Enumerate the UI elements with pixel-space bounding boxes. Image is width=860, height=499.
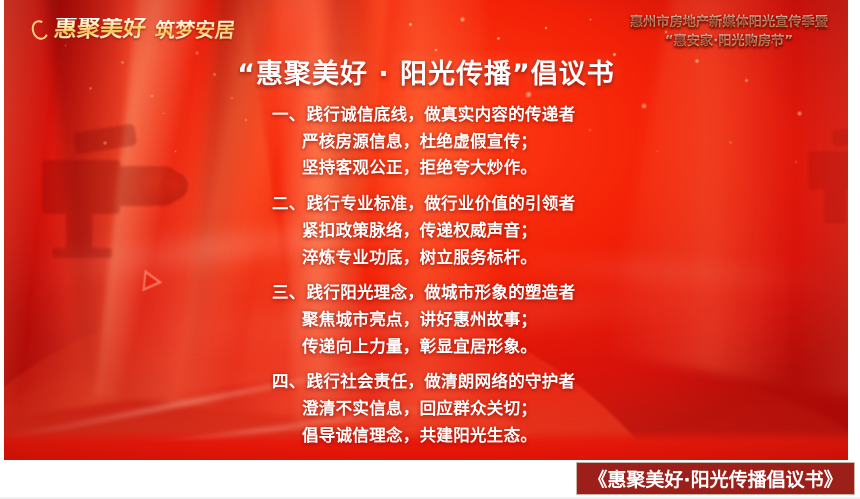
pledge-item: 三、践行阳光理念，做城市形象的塑造者 聚焦城市亮点，讲好惠州故事； 传递向上力量… (272, 280, 575, 360)
pledge-number: 二、 (272, 194, 306, 213)
pledge-heading-text: 践行阳光理念，做城市形象的塑造者 (307, 283, 576, 302)
pledge-number: 四、 (272, 372, 306, 391)
pledge-item: 二、践行专业标准，做行业价值的引领者 紧扣政策脉络，传递权威声音； 淬炼专业功底… (272, 191, 575, 271)
pledge-item: 一、践行诚信底线，做真实内容的传递者 严核房源信息，杜绝虚假宣传； 坚持客观公正… (272, 102, 575, 182)
pledge-heading: 三、践行阳光理念，做城市形象的塑造者 (272, 280, 575, 307)
page-margin-left (0, 0, 4, 460)
pledge-heading-text: 践行专业标准，做行业价值的引领者 (307, 194, 576, 213)
pledge-heading-text: 践行社会责任，做清朗网络的守护者 (307, 372, 576, 391)
event-banner: 惠州市房地产新媒体阳光宣传季暨 “惠安家·阳光购房节” (630, 14, 828, 52)
event-banner-line-1: 惠州市房地产新媒体阳光宣传季暨 (630, 14, 828, 33)
pledge-line: 紧扣政策脉络，传递权威声音； (272, 218, 575, 245)
event-banner-line-2: “惠安家·阳光购房节” (630, 33, 828, 52)
poster-page: 惠聚美好 筑梦安居 惠州市房地产新媒体阳光宣传季暨 “惠安家·阳光购房节” “惠… (0, 0, 860, 499)
pledge-heading: 二、践行专业标准，做行业价值的引领者 (272, 191, 575, 218)
pledge-line: 淬炼专业功底，树立服务标杆。 (272, 245, 575, 272)
pledge-heading: 一、践行诚信底线，做真实内容的传递者 (272, 102, 575, 129)
pledge-line: 坚持客观公正，拒绝夸大炒作。 (272, 155, 575, 182)
pledge-line: 聚焦城市亮点，讲好惠州故事； (272, 307, 575, 334)
page-title: “惠聚美好 · 阳光传播”倡议书 (4, 52, 848, 91)
pledge-number: 三、 (272, 283, 306, 302)
page-margin-right (848, 0, 860, 460)
pledge-list: 一、践行诚信底线，做真实内容的传递者 严核房源信息，杜绝虚假宣传； 坚持客观公正… (272, 102, 575, 459)
pledge-line: 传递向上力量，彰显宜居形象。 (272, 334, 575, 361)
pledge-line: 澄清不实信息，回应群众关切； (272, 396, 575, 423)
pledge-line: 严核房源信息，杜绝虚假宣传； (272, 129, 575, 156)
pledge-line: 倡导诚信理念，共建阳光生态。 (272, 423, 575, 450)
pledge-number: 一、 (272, 105, 306, 124)
pledge-item: 四、践行社会责任，做清朗网络的守护者 澄清不实信息，回应群众关切； 倡导诚信理念… (272, 369, 575, 449)
image-caption-text: 《惠聚美好·阳光传播倡议书》 (588, 465, 842, 492)
campaign-logo: 惠聚美好 筑梦安居 (32, 18, 235, 41)
logo-word-primary: 惠聚美好 (53, 18, 147, 41)
image-caption-bar: 《惠聚美好·阳光传播倡议书》 (576, 462, 855, 495)
logo-word-secondary: 筑梦安居 (154, 20, 236, 40)
pledge-heading: 四、践行社会责任，做清朗网络的守护者 (272, 369, 575, 396)
poster-image: 惠聚美好 筑梦安居 惠州市房地产新媒体阳光宣传季暨 “惠安家·阳光购房节” “惠… (4, 0, 848, 460)
pledge-heading-text: 践行诚信底线，做真实内容的传递者 (307, 105, 576, 124)
swirl-flourish-icon (29, 17, 51, 41)
